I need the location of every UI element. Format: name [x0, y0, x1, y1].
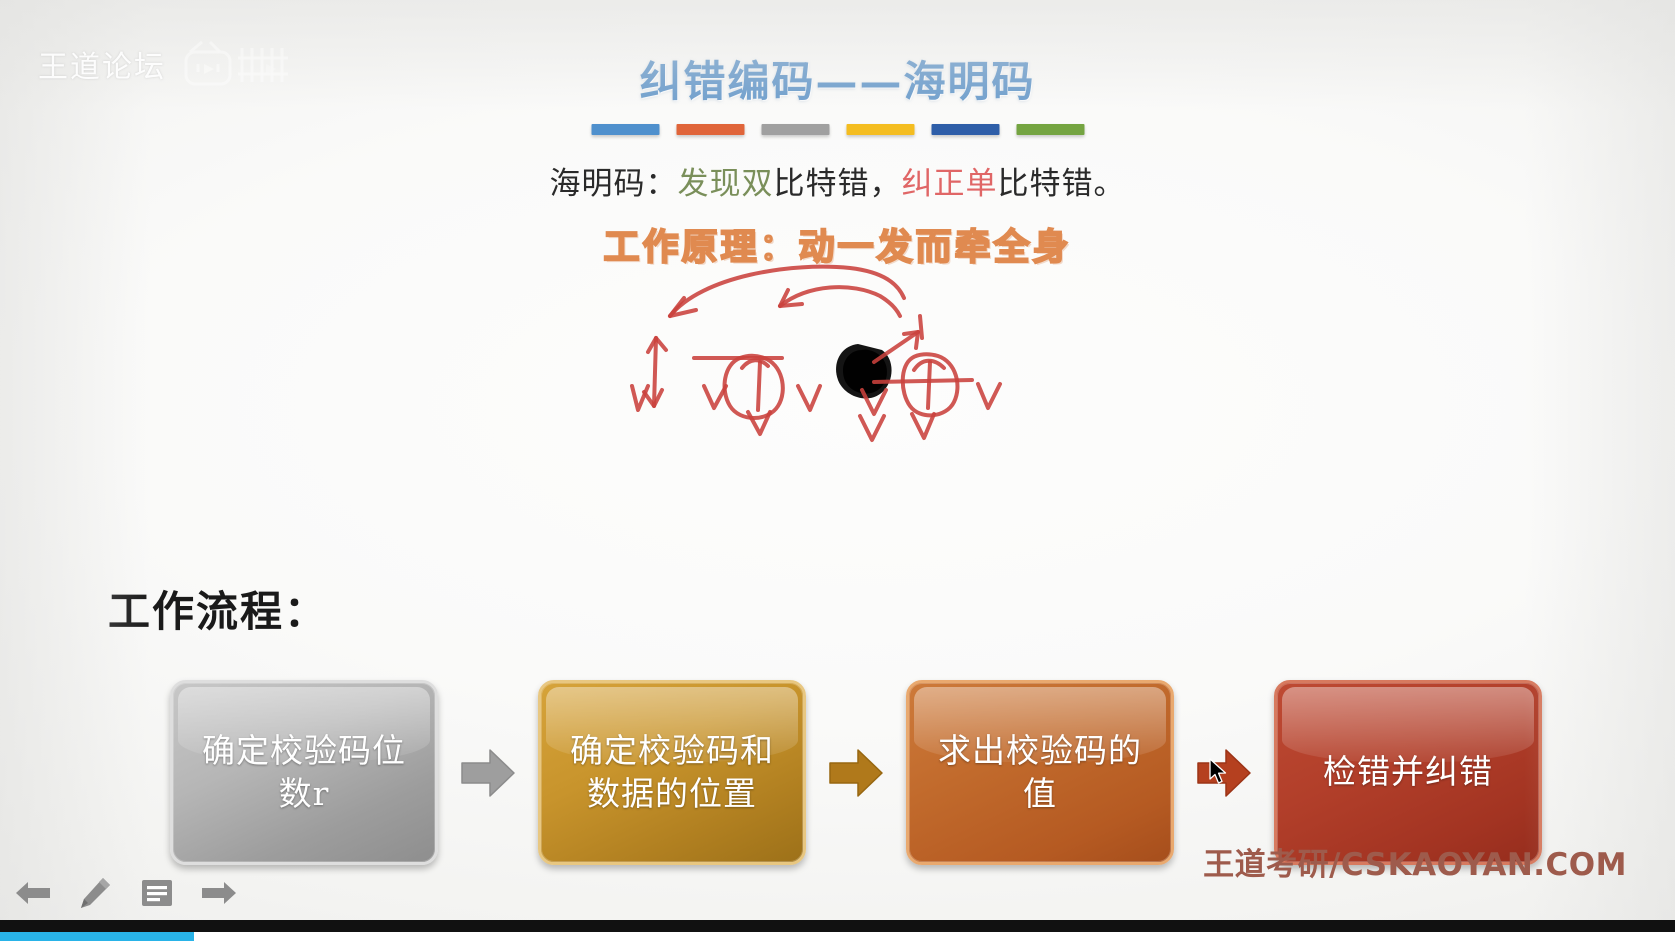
flow-arrow-3-icon	[1196, 747, 1252, 799]
flow-step-2[interactable]: 确定校验码和数据的位置	[538, 680, 806, 865]
bilibili-logo-icon	[180, 38, 298, 90]
previous-slide-button[interactable]	[12, 872, 54, 914]
color-bar-segment-5	[931, 124, 999, 135]
flow-step-3[interactable]: 求出校验码的值	[906, 680, 1174, 865]
pen-tool-button[interactable]	[74, 872, 116, 914]
arrow-right-icon	[200, 878, 238, 908]
flow-step-1[interactable]: 确定校验码位数r	[170, 680, 438, 865]
flow-step-4[interactable]: 检错并纠错	[1274, 680, 1542, 865]
color-bar-segment-2	[676, 124, 744, 135]
color-bar-segment-1	[591, 124, 659, 135]
subtitle-lead: 海明码：	[550, 166, 678, 202]
watermark-top-left: 王道论坛	[38, 38, 298, 90]
flow-step-3-label: 求出校验码的值	[925, 730, 1155, 814]
document-icon	[141, 878, 173, 908]
flow-arrow-2-icon	[828, 747, 884, 799]
pencil-icon	[78, 876, 112, 910]
color-bar-segment-3	[761, 124, 829, 135]
flow-step-4-label: 检错并纠错	[1323, 751, 1493, 793]
subtitle-green-phrase: 发现双	[678, 166, 774, 202]
color-bar-segment-6	[1016, 124, 1084, 135]
arrow-left-icon	[14, 878, 52, 908]
slide-subtitle: 海明码：发现双比特错，纠正单比特错。	[0, 158, 1675, 203]
notes-button[interactable]	[136, 872, 178, 914]
subtitle-tail: 比特错。	[998, 166, 1126, 202]
subtitle-mid: 比特错，	[774, 166, 902, 202]
player-toolbar	[0, 866, 240, 920]
screen: 王道论坛 纠错编码——海明码	[0, 0, 1675, 941]
subtitle-red-phrase: 纠正单	[902, 166, 998, 202]
watermark-bottom-right: 王道考研/CSKAOYAN.COM	[1203, 839, 1627, 884]
next-slide-button[interactable]	[198, 872, 240, 914]
watermark-forum-text: 王道论坛	[38, 42, 166, 86]
flow-arrow-1-icon	[460, 747, 516, 799]
workflow-diagram: 确定校验码位数r 确定校验码和数据的位置 求出校验码的值	[170, 680, 1542, 865]
color-bar-segment-4	[846, 124, 914, 135]
slide-canvas: 王道论坛 纠错编码——海明码	[0, 0, 1675, 920]
progress-bar-track[interactable]	[0, 932, 1675, 941]
ink-annotation-sketch	[612, 258, 1032, 458]
flow-section-heading: 工作流程：	[108, 578, 328, 639]
title-color-bar	[591, 124, 1084, 135]
wordart-principle: 工作原理：动一发而牵全身	[0, 218, 1675, 270]
flow-step-2-label: 确定校验码和数据的位置	[557, 730, 787, 814]
progress-bar-fill	[0, 932, 194, 941]
flow-step-1-label: 确定校验码位数r	[189, 730, 419, 814]
